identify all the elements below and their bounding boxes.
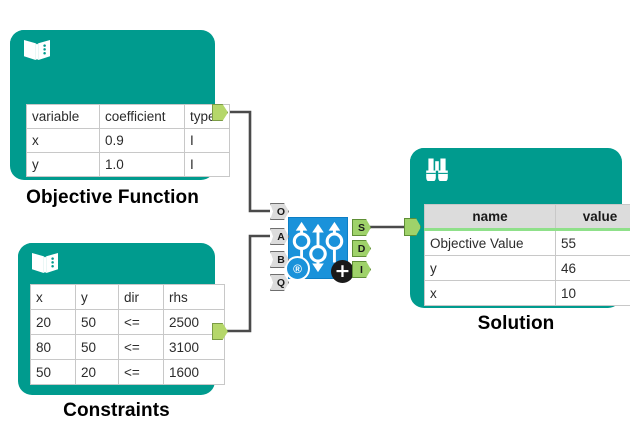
edge-objective-to-optimizer xyxy=(225,112,270,211)
node-objective-label: Objective Function xyxy=(10,187,215,209)
cell-coefficient: 1.0 xyxy=(100,153,185,177)
cell-variable: y xyxy=(27,153,100,177)
book-table-icon xyxy=(30,250,60,276)
cell-value: 10 xyxy=(556,281,630,306)
column-header: value xyxy=(556,205,630,230)
column-header: name xyxy=(425,205,556,230)
table-row: y 1.0 I xyxy=(27,153,230,177)
cell-y: 20 xyxy=(76,360,119,385)
cell-name: Objective Value xyxy=(425,230,556,256)
optimizer-input-port-q[interactable]: Q xyxy=(270,274,289,291)
constraints-table: x y dir rhs 20 50 <= 2500 80 50 <= 3100 … xyxy=(30,284,225,385)
cell-dir: <= xyxy=(119,335,164,360)
cell-value: 55 xyxy=(556,230,630,256)
cell-name: x xyxy=(425,281,556,306)
cell-x: 20 xyxy=(31,310,76,335)
edge-constraints-to-optimizer xyxy=(225,236,270,331)
cell-name: y xyxy=(425,256,556,281)
workflow-canvas: variable coefficient type x 0.9 I y 1.0 … xyxy=(0,0,630,446)
table-row: 20 50 <= 2500 xyxy=(31,310,225,335)
node-optimizer[interactable]: ® + xyxy=(288,217,348,279)
column-header: rhs xyxy=(164,285,225,310)
table-header-row: variable coefficient type xyxy=(27,105,230,129)
solution-table: name value Objective Value 55 y 46 x 10 xyxy=(424,204,630,306)
column-header: dir xyxy=(119,285,164,310)
table-row: 50 20 <= 1600 xyxy=(31,360,225,385)
table-row: x 10 xyxy=(425,281,630,306)
node-solution[interactable]: name value Objective Value 55 y 46 x 10 xyxy=(410,148,622,308)
cell-coefficient: 0.9 xyxy=(100,129,185,153)
objective-table: variable coefficient type x 0.9 I y 1.0 … xyxy=(26,104,230,177)
cell-rhs: 1600 xyxy=(164,360,225,385)
cell-type: I xyxy=(185,129,230,153)
plus-badge[interactable]: + xyxy=(331,260,354,283)
cell-y: 50 xyxy=(76,335,119,360)
cell-x: 50 xyxy=(31,360,76,385)
column-header: variable xyxy=(27,105,100,129)
cell-dir: <= xyxy=(119,310,164,335)
column-header: coefficient xyxy=(100,105,185,129)
optimizer-output-port-s[interactable]: S xyxy=(352,219,371,236)
cell-y: 50 xyxy=(76,310,119,335)
optimizer-output-port-d[interactable]: D xyxy=(352,240,371,257)
optimizer-output-port-i[interactable]: I xyxy=(352,261,371,278)
cell-value: 46 xyxy=(556,256,630,281)
table-header-row: name value xyxy=(425,205,630,230)
cell-dir: <= xyxy=(119,360,164,385)
constraints-output-port[interactable] xyxy=(212,323,228,340)
optimizer-input-port-a[interactable]: A xyxy=(270,228,289,245)
node-constraints-label: Constraints xyxy=(18,400,215,422)
node-solution-label: Solution xyxy=(410,313,622,335)
cell-variable: x xyxy=(27,129,100,153)
table-header-row: x y dir rhs xyxy=(31,285,225,310)
table-row: x 0.9 I xyxy=(27,129,230,153)
table-row: y 46 xyxy=(425,256,630,281)
column-header: x xyxy=(31,285,76,310)
column-header: y xyxy=(76,285,119,310)
cell-x: 80 xyxy=(31,335,76,360)
binoculars-icon xyxy=(422,155,452,181)
node-objective-function[interactable]: variable coefficient type x 0.9 I y 1.0 … xyxy=(10,30,215,180)
table-row: Objective Value 55 xyxy=(425,230,630,256)
cell-type: I xyxy=(185,153,230,177)
book-table-icon xyxy=(22,37,52,63)
optimizer-input-port-o[interactable]: O xyxy=(270,203,289,220)
table-row: 80 50 <= 3100 xyxy=(31,335,225,360)
